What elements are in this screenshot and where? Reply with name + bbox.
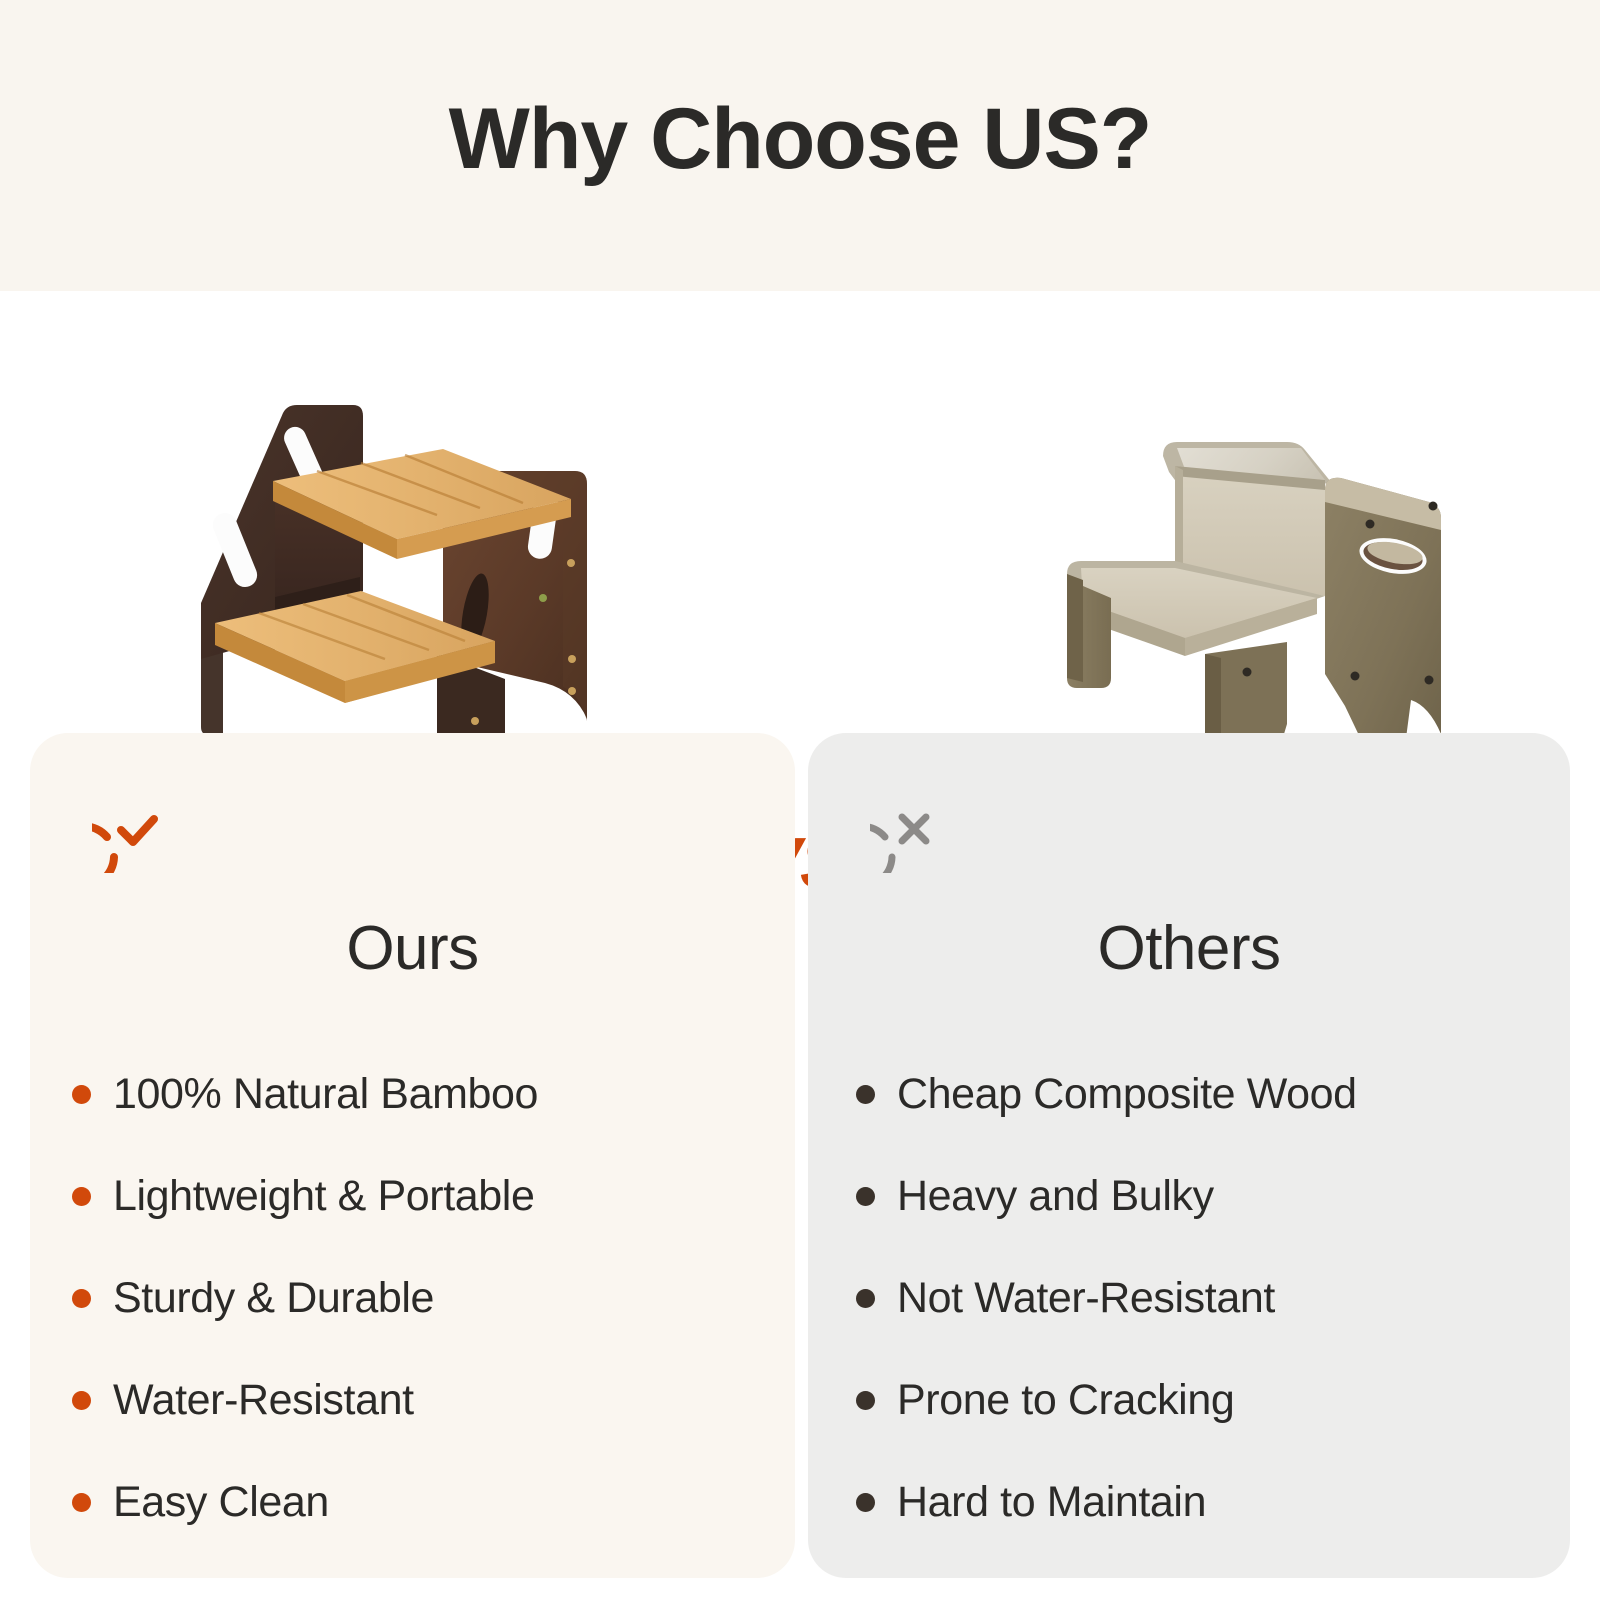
list-item: Lightweight & Portable [30, 1145, 795, 1247]
list-item-label: Prone to Cracking [897, 1376, 1234, 1425]
x-circle-icon [870, 785, 958, 873]
bullet-dot-icon [856, 1391, 875, 1410]
page-title: Why Choose US? [0, 92, 1600, 187]
list-item: Sturdy & Durable [30, 1247, 795, 1349]
header-band: Why Choose US? [0, 0, 1600, 291]
list-item: 100% Natural Bamboo [30, 1043, 795, 1145]
list-item-label: Lightweight & Portable [113, 1172, 534, 1221]
bullet-dot-icon [72, 1289, 91, 1308]
comparison-card-others: Others Cheap Composite Wood Heavy and Bu… [808, 733, 1570, 1578]
list-item: Cheap Composite Wood [808, 1043, 1570, 1145]
list-item: Hard to Maintain [808, 1451, 1570, 1553]
list-item-label: 100% Natural Bamboo [113, 1070, 538, 1119]
list-item: Water-Resistant [30, 1349, 795, 1451]
bullet-dot-icon [72, 1391, 91, 1410]
bullet-dot-icon [856, 1289, 875, 1308]
bullet-dot-icon [856, 1085, 875, 1104]
list-item-label: Sturdy & Durable [113, 1274, 434, 1323]
product-comparison-stage: VS [0, 291, 1600, 751]
list-item-label: Not Water-Resistant [897, 1274, 1275, 1323]
card-heading-ours: Ours [30, 913, 795, 984]
list-item: Prone to Cracking [808, 1349, 1570, 1451]
bullet-dot-icon [856, 1187, 875, 1206]
benefits-list-ours: 100% Natural Bamboo Lightweight & Portab… [30, 1043, 795, 1553]
bullet-dot-icon [72, 1085, 91, 1104]
drawbacks-list-others: Cheap Composite Wood Heavy and Bulky Not… [808, 1043, 1570, 1553]
bullet-dot-icon [72, 1493, 91, 1512]
comparison-card-ours: Ours 100% Natural Bamboo Lightweight & P… [30, 733, 795, 1578]
list-item-label: Heavy and Bulky [897, 1172, 1214, 1221]
list-item-label: Cheap Composite Wood [897, 1070, 1357, 1119]
check-circle-icon [92, 785, 180, 873]
list-item-label: Hard to Maintain [897, 1478, 1206, 1527]
list-item: Easy Clean [30, 1451, 795, 1553]
why-choose-us-infographic: Why Choose US? [0, 0, 1600, 1600]
list-item-label: Easy Clean [113, 1478, 329, 1527]
list-item: Not Water-Resistant [808, 1247, 1570, 1349]
bullet-dot-icon [72, 1187, 91, 1206]
card-heading-others: Others [808, 913, 1570, 984]
list-item-label: Water-Resistant [113, 1376, 414, 1425]
list-item: Heavy and Bulky [808, 1145, 1570, 1247]
bullet-dot-icon [856, 1493, 875, 1512]
